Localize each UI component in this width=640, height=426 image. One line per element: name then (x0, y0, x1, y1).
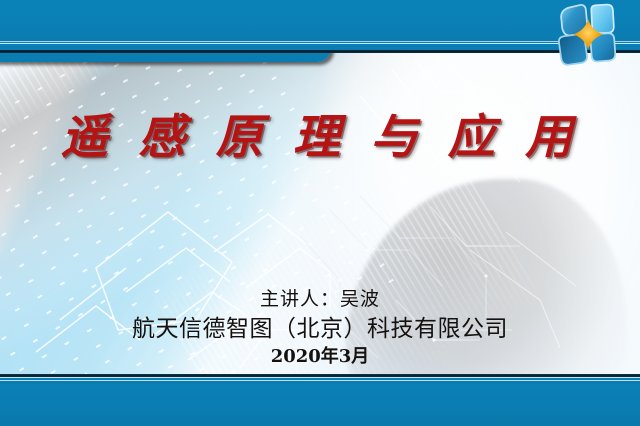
speaker-line: 主讲人：吴波 (0, 287, 640, 313)
four-petal-star-logo (550, 2, 622, 74)
date-line: 2020年3月 (0, 345, 640, 368)
company-line: 航天信德智图（北京）科技有限公司 (0, 313, 640, 345)
bottom-hairline-rules (0, 377, 640, 384)
bottom-blue-band (0, 384, 640, 426)
top-dark-rule (0, 50, 640, 53)
byline-block: 主讲人：吴波 航天信德智图（北京）科技有限公司 2020年3月 (0, 287, 640, 368)
page-title: 遥 感 原 理 与 应 用 (61, 114, 579, 161)
title-slide: 遥 感 原 理 与 应 用 主讲人：吴波 航天信德智图（北京）科技有限公司 20… (0, 0, 640, 426)
top-tab-hairline-rules (0, 41, 331, 44)
top-blue-band (0, 0, 640, 41)
title-block: 遥 感 原 理 与 应 用 (0, 114, 640, 161)
